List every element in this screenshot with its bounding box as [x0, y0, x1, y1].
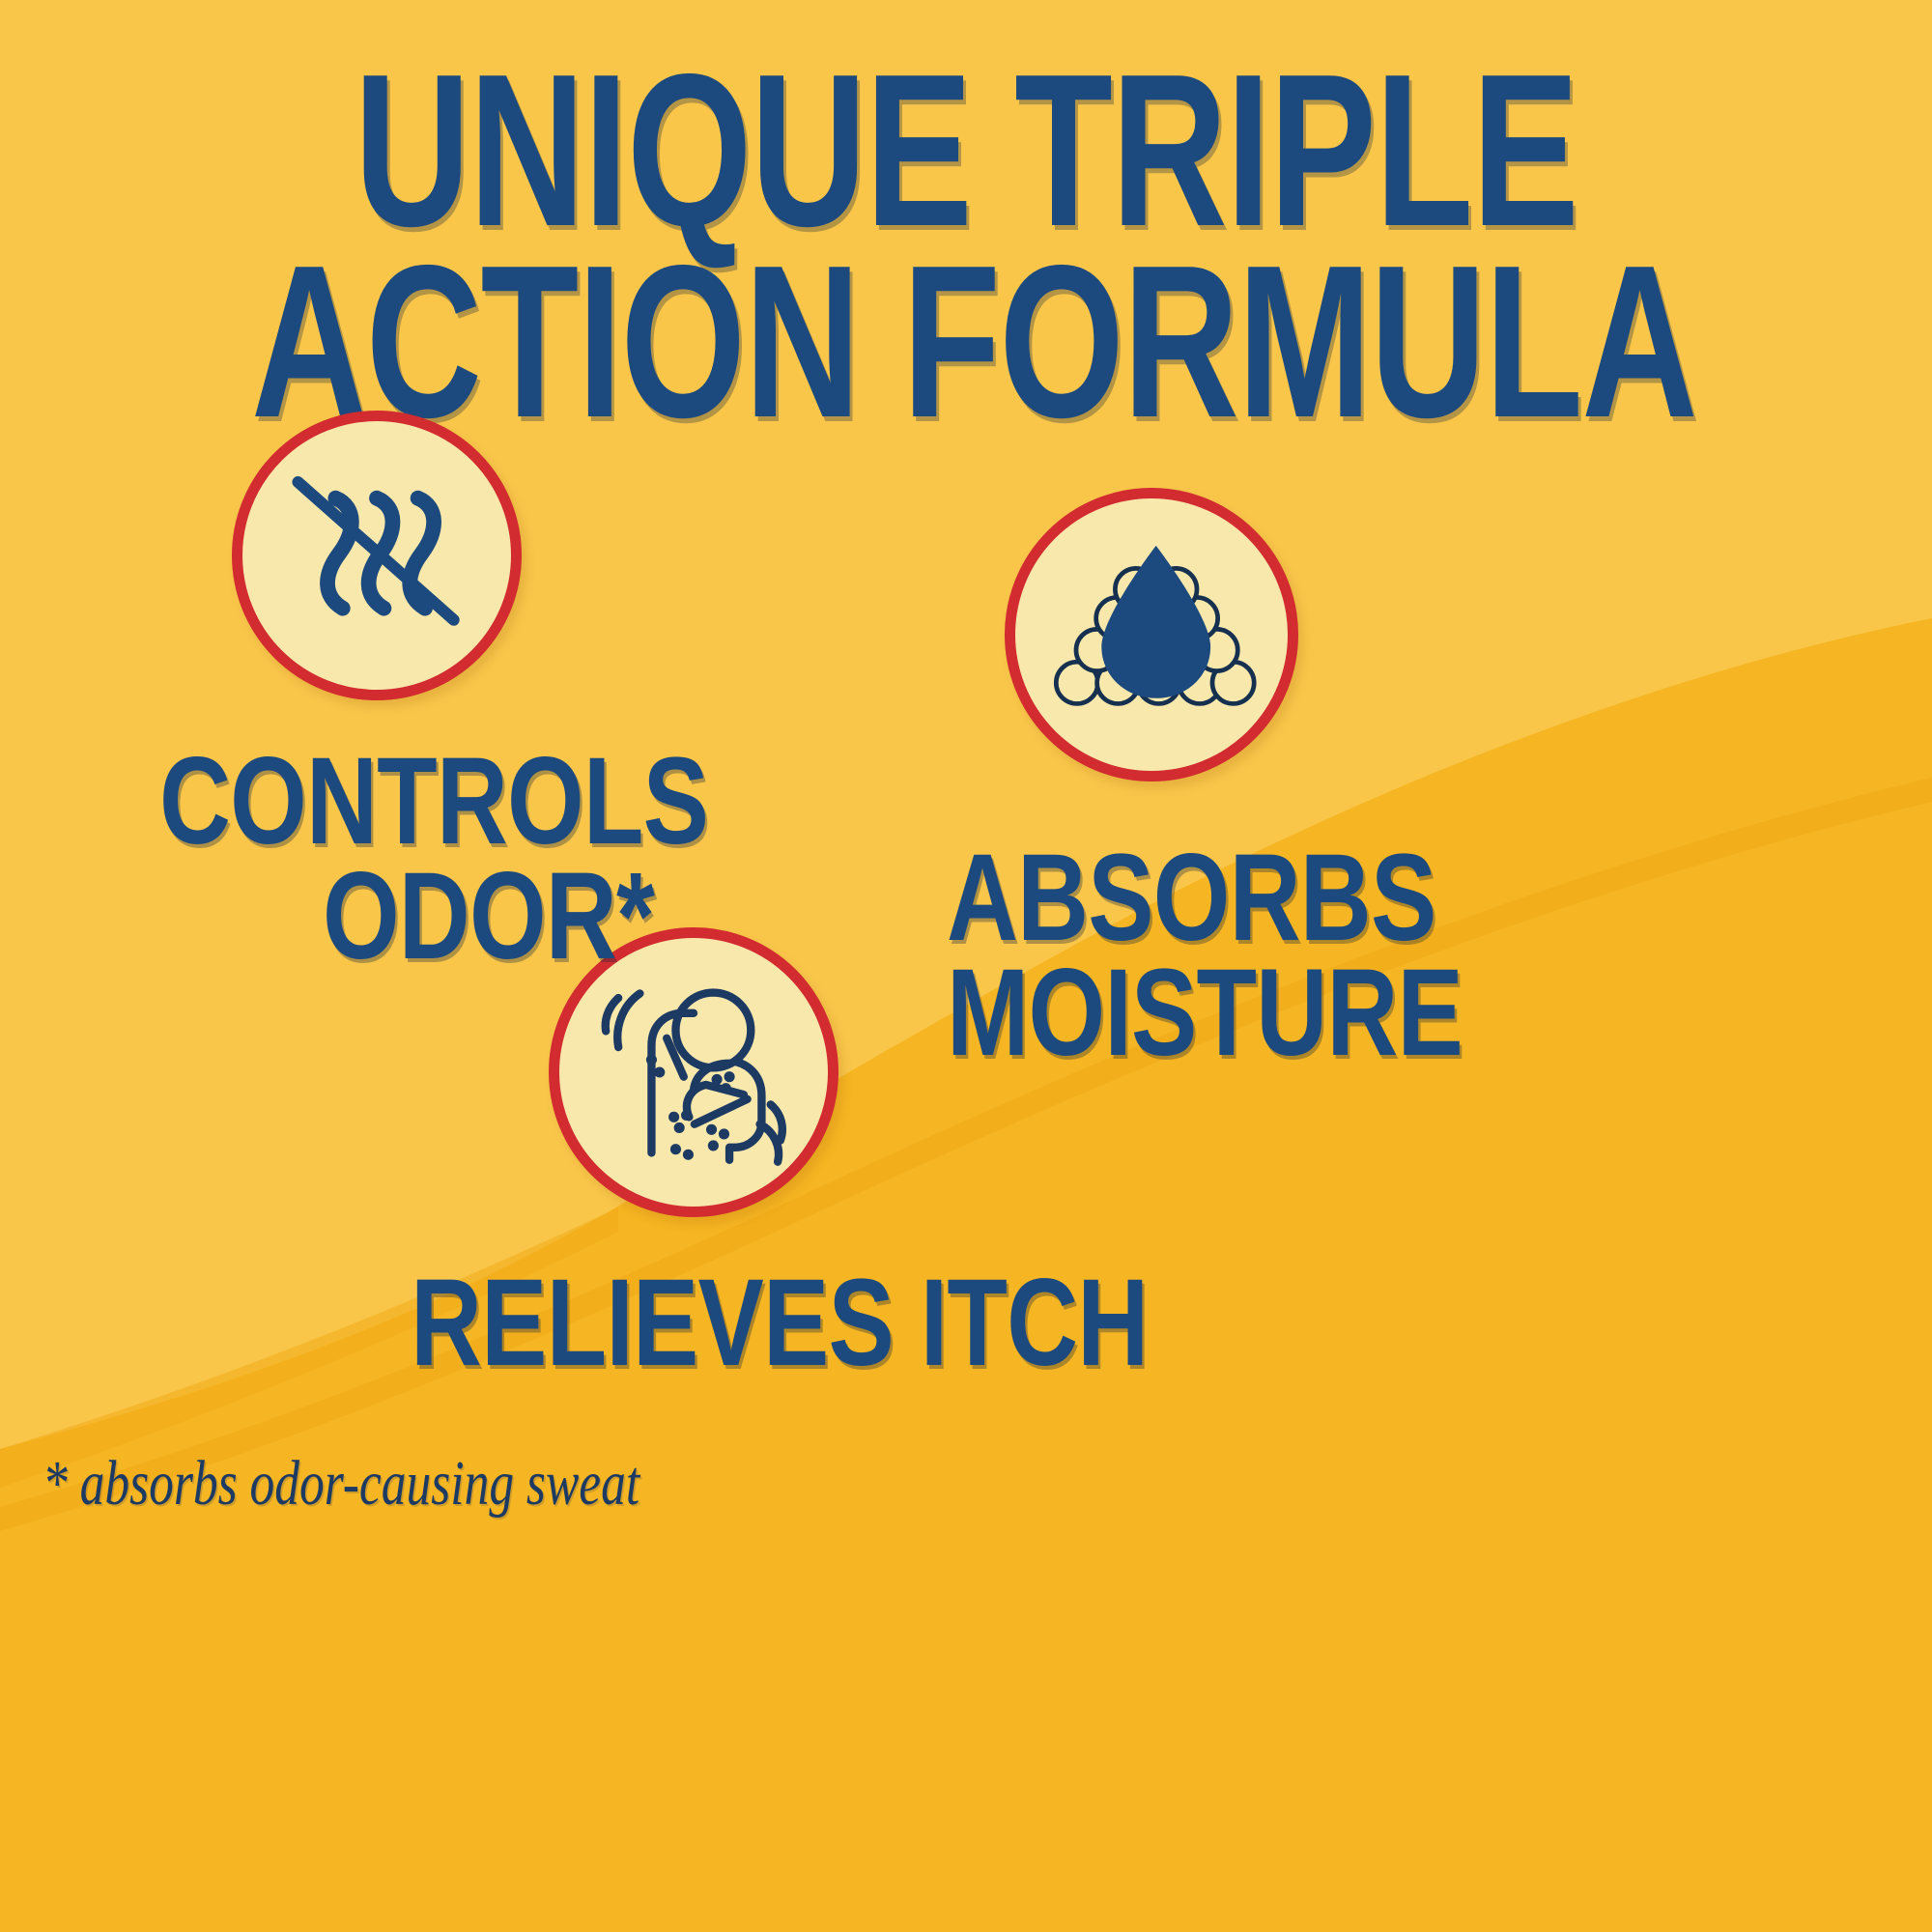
feature-label-itch: RELIEVES ITCH — [411, 1265, 998, 1380]
feature-icon-circle-odor — [232, 411, 522, 700]
headline-line-2: ACTION FORMULA — [251, 245, 1681, 437]
feature-label-odor: CONTROLS ODOR* — [159, 744, 654, 974]
feature-icon-circle-moisture — [1005, 488, 1298, 781]
odor-waves-slash-icon — [242, 421, 511, 690]
feature-label-itch-line-1: RELIEVES ITCH — [411, 1254, 1148, 1392]
footnote-text: * absorbs odor-causing sweat — [43, 1447, 639, 1520]
feature-label-moisture: ABSORBS MOISTURE — [947, 840, 1379, 1070]
head-shape — [675, 993, 751, 1068]
droplet-shape — [1101, 546, 1210, 698]
water-droplet-on-powder-icon — [1015, 498, 1288, 771]
promo-graphic: UNIQUE TRIPLE ACTION FORMULA — [0, 0, 1932, 1932]
feature-label-odor-line-2: ODOR* — [159, 859, 654, 974]
feature-label-moisture-line-2: MOISTURE — [947, 955, 1379, 1070]
page-title: UNIQUE TRIPLE ACTION FORMULA — [251, 54, 1681, 437]
